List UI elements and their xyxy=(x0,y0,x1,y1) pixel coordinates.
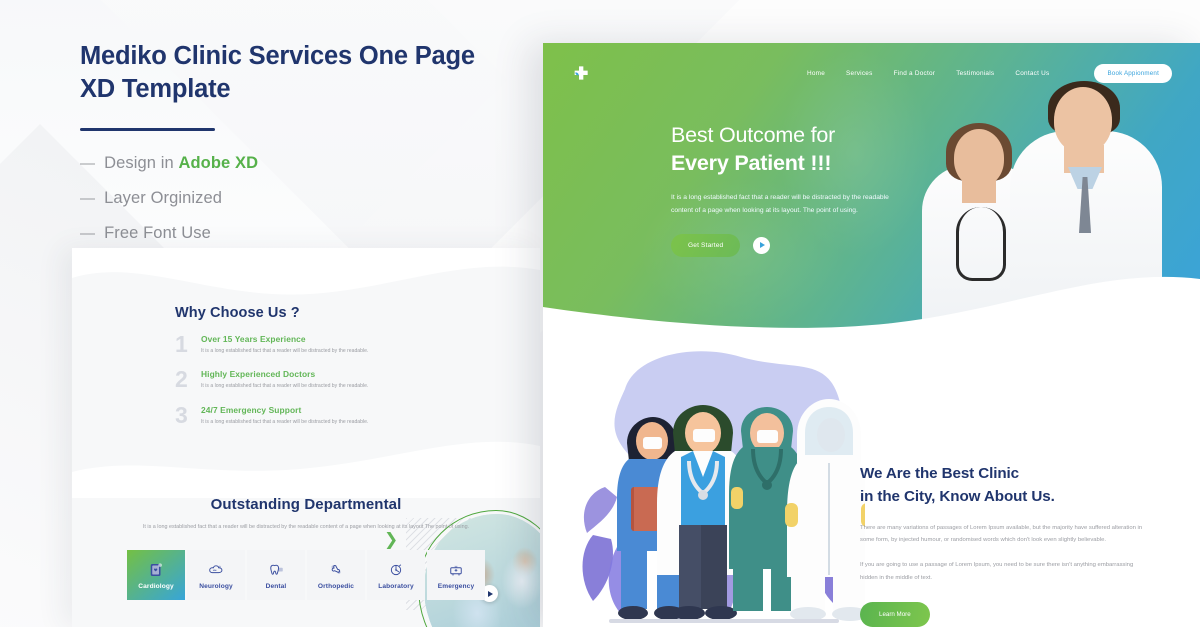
department-card-orthopedic[interactable]: Orthopedic xyxy=(307,550,365,600)
medical-cross-icon[interactable] xyxy=(571,63,591,83)
wave-divider xyxy=(72,248,540,310)
wave-divider xyxy=(72,428,540,498)
about-paragraph-2: If you are going to use a passage of Lor… xyxy=(860,559,1148,584)
department-card-laboratory[interactable]: Laboratory xyxy=(367,550,425,600)
section-subtitle: It is a long established fact that a rea… xyxy=(72,522,540,533)
bone-joint-icon xyxy=(326,561,346,579)
learn-more-button[interactable]: Learn More xyxy=(860,602,930,627)
bullet-text: Layer Orginized xyxy=(104,189,222,208)
hero-wave-divider xyxy=(543,273,1200,343)
department-label: Orthopedic xyxy=(318,583,354,590)
bullet-dash: — xyxy=(80,225,95,242)
department-card-dental[interactable]: Dental xyxy=(247,550,305,600)
website-mockup: Home Services Find a Doctor Testimonials… xyxy=(543,43,1200,627)
bullet-dash: — xyxy=(80,155,95,172)
list-item: 3 24/7 Emergency Support It is a long es… xyxy=(175,405,435,427)
about-title-line2: in the City, Know About Us. xyxy=(860,488,1055,505)
department-label: Emergency xyxy=(438,583,474,590)
item-title: Over 15 Years Experience xyxy=(201,334,368,344)
department-card-list: Cardiology Neurology Dental xyxy=(72,550,540,600)
nav-link-find-a-doctor[interactable]: Find a Doctor xyxy=(894,70,936,77)
about-section: We Are the Best Clinic in the City, Know… xyxy=(543,343,1200,627)
brain-icon xyxy=(206,561,226,579)
promo-column: Mediko Clinic Services One Page XD Templ… xyxy=(0,0,543,627)
hero-subtitle: It is a long established fact that a rea… xyxy=(671,191,889,217)
why-choose-us-section: Why Choose Us ? 1 Over 15 Years Experien… xyxy=(175,305,435,427)
item-description: It is a long established fact that a rea… xyxy=(201,347,368,356)
department-card-cardiology[interactable]: Cardiology xyxy=(127,550,185,600)
department-label: Dental xyxy=(266,583,287,590)
get-started-button[interactable]: Get Started xyxy=(671,234,740,257)
bullet-accent: Adobe XD xyxy=(178,154,258,172)
item-title: 24/7 Emergency Support xyxy=(201,405,368,415)
item-number: 1 xyxy=(175,334,192,356)
department-card-neurology[interactable]: Neurology xyxy=(187,550,245,600)
microscope-icon xyxy=(386,561,406,579)
list-item: — Design in Adobe XD xyxy=(80,154,500,173)
item-title: Highly Experienced Doctors xyxy=(201,369,368,379)
hero-section: Home Services Find a Doctor Testimonials… xyxy=(543,43,1200,343)
about-copy: We Are the Best Clinic in the City, Know… xyxy=(860,463,1160,627)
section-title: Outstanding Departmental xyxy=(72,496,540,513)
bullet-text: Design in Adobe XD xyxy=(104,154,258,173)
tooth-icon xyxy=(266,561,286,579)
hero-title-line1: Best Outcome for xyxy=(671,123,835,147)
page-title: Mediko Clinic Services One Page XD Templ… xyxy=(80,40,500,105)
department-label: Cardiology xyxy=(138,583,173,590)
department-card-emergency[interactable]: Emergency xyxy=(427,550,485,600)
list-item: — Layer Orginized xyxy=(80,189,500,208)
medical-team-illustration xyxy=(565,337,865,627)
department-label: Laboratory xyxy=(378,583,413,590)
item-description: It is a long established fact that a rea… xyxy=(201,418,368,427)
feature-list: — Design in Adobe XD — Layer Orginized —… xyxy=(80,138,500,243)
about-title-line1: We Are the Best Clinic xyxy=(860,465,1019,482)
nav-link-testimonials[interactable]: Testimonials xyxy=(956,70,994,77)
section-title: Why Choose Us ? xyxy=(175,305,435,321)
list-item: 2 Highly Experienced Doctors It is a lon… xyxy=(175,369,435,391)
bullet-dash: — xyxy=(80,190,95,207)
departmental-section: Outstanding Departmental It is a long es… xyxy=(72,496,540,600)
item-number: 3 xyxy=(175,405,192,427)
list-item: — Free Font Use xyxy=(80,224,500,243)
nav-link-home[interactable]: Home xyxy=(807,70,825,77)
department-label: Neurology xyxy=(199,583,233,590)
about-title: We Are the Best Clinic in the City, Know… xyxy=(860,463,1160,509)
nav-link-contact-us[interactable]: Contact Us xyxy=(1015,70,1049,77)
bullet-text: Free Font Use xyxy=(104,224,211,243)
nav-link-services[interactable]: Services xyxy=(846,70,873,77)
heart-monitor-icon xyxy=(146,561,166,579)
title-underline xyxy=(80,128,215,131)
about-paragraph-1: There are many variations of passages of… xyxy=(860,522,1148,547)
list-item: 1 Over 15 Years Experience It is a long … xyxy=(175,334,435,356)
item-description: It is a long established fact that a rea… xyxy=(201,382,368,391)
play-icon[interactable] xyxy=(753,237,770,254)
item-number: 2 xyxy=(175,369,192,391)
template-preview-card: Why Choose Us ? 1 Over 15 Years Experien… xyxy=(72,248,540,627)
ambulance-icon xyxy=(446,561,466,579)
